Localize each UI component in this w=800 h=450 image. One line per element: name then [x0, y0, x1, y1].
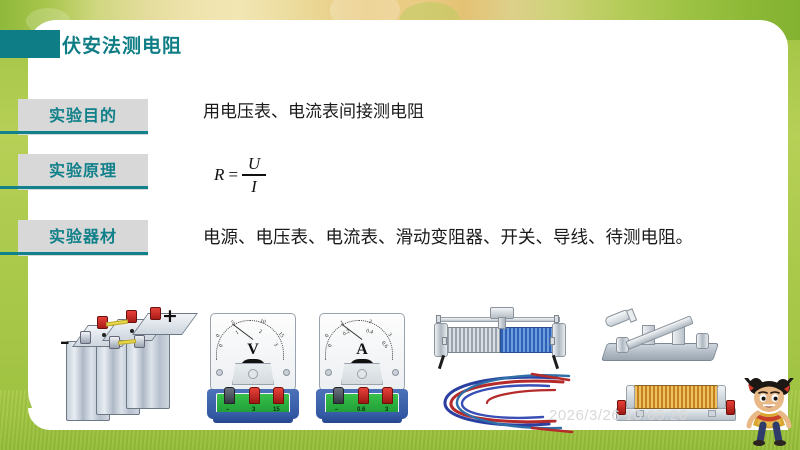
section-label-equipment-text: 实验器材 [49, 229, 117, 247]
ammeter-terminal-3: 3 [385, 407, 388, 413]
section-label-equipment-underline [0, 252, 148, 255]
voltmeter-illustration: 0 5 10 15 0 1 2 3 V – 3 15 [207, 313, 299, 425]
mascot-svg [742, 378, 796, 446]
battery-plus-label: + [162, 305, 178, 327]
ammeter-symbol: A [316, 341, 408, 359]
ammeter-terminal-minus: – [335, 407, 338, 413]
voltmeter-terminal-3: 3 [252, 407, 255, 413]
ammeter-terminal-06: 0.6 [357, 407, 365, 413]
mascot-illustration [742, 378, 796, 446]
formula-fraction: U I [242, 155, 266, 195]
formula-lhs: R [214, 165, 224, 185]
voltmeter-scale-10-upper: 10 [259, 318, 266, 325]
formula-equals: = [227, 165, 238, 185]
switch-illustration [596, 303, 728, 369]
rheostat-illustration [424, 305, 576, 367]
voltmeter-symbol: V [207, 341, 299, 359]
voltmeter-terminal-minus: – [226, 407, 229, 413]
formula-numerator: U [242, 155, 266, 174]
section-label-principle-underline [0, 186, 148, 189]
title-accent-chip [0, 30, 60, 58]
section-label-purpose-underline [0, 131, 148, 134]
page-title: 伏安法测电阻 [62, 30, 182, 58]
section-label-purpose[interactable]: 实验目的 [18, 99, 148, 135]
formula-denominator: I [245, 176, 263, 195]
ammeter-illustration: 0 1 2 3 0 0.2 0.4 0.6 A – 0.6 3 [316, 313, 408, 425]
section-label-principle[interactable]: 实验原理 [18, 154, 148, 190]
battery-illustration: – + [64, 305, 186, 425]
section-label-equipment[interactable]: 实验器材 [18, 220, 148, 256]
wires-illustration [437, 372, 582, 434]
purpose-body-text: 用电压表、电流表间接测电阻 [203, 100, 493, 125]
timestamp-watermark: 2026/3/26 10:05:26 [549, 407, 687, 424]
section-label-purpose-text: 实验目的 [49, 108, 117, 126]
equipment-body-text: 电源、电压表、电流表、滑动变阻器、开关、导线、待测电阻。 [203, 222, 763, 254]
voltmeter-terminal-15: 15 [273, 407, 280, 413]
section-label-principle-text: 实验原理 [49, 163, 117, 181]
slide-root: 伏安法测电阻 实验目的 实验原理 实验器材 用电压表、电流表间接测电阻 R = … [0, 0, 800, 450]
resistance-formula: R = U I [214, 155, 266, 195]
battery-minus-label: – [60, 331, 70, 353]
wires-svg [437, 372, 582, 434]
